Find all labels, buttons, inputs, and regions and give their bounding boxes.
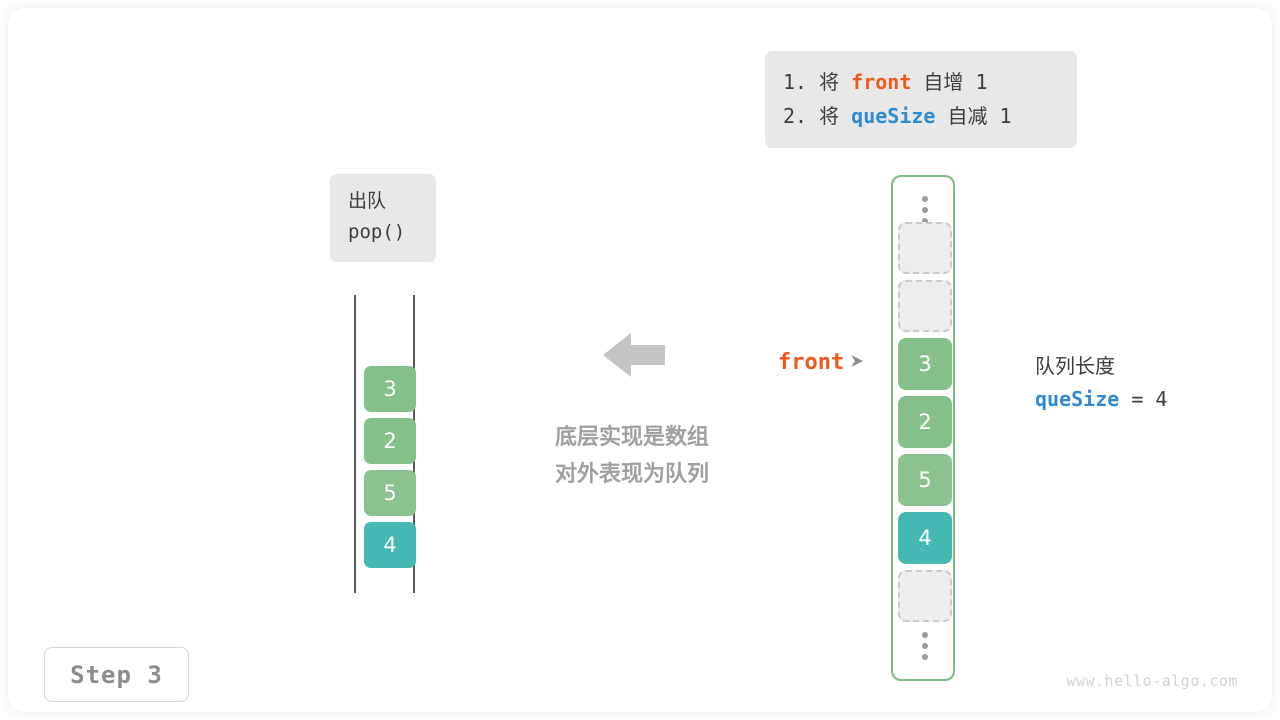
queue-cell-list: 3254	[364, 366, 416, 574]
instruction-callout: 1. 将 front 自增 1 2. 将 queSize 自减 1	[765, 51, 1077, 148]
queue-cell: 4	[364, 522, 416, 568]
array-top-ellipsis-icon	[893, 196, 957, 224]
step-badge: Step 3	[44, 647, 189, 702]
array-cell: 5	[898, 454, 952, 506]
array-cell-empty	[898, 570, 952, 622]
mapping-caption-line-1: 底层实现是数组	[535, 419, 729, 456]
instruction-line-1-prefix: 1. 将	[783, 70, 851, 94]
quesize-number: 4	[1155, 387, 1167, 411]
pop-label-title: 出队	[348, 186, 436, 217]
array-cell: 2	[898, 396, 952, 448]
instruction-line-2-keyword: queSize	[851, 104, 935, 128]
queue-abstract-view: 3254	[348, 295, 420, 593]
instruction-line-2-prefix: 2. 将	[783, 104, 851, 128]
queue-cell: 3	[364, 366, 416, 412]
watermark: www.hello-algo.com	[1066, 672, 1238, 690]
mapping-caption-line-2: 对外表现为队列	[535, 456, 729, 493]
queue-rail-left	[354, 295, 356, 593]
queue-cell: 2	[364, 418, 416, 464]
array-underlying-view: 3254	[891, 175, 955, 681]
step-badge-label: Step 3	[70, 661, 163, 689]
instruction-line-1-suffix: 自增 1	[911, 70, 987, 94]
array-cell: 4	[898, 512, 952, 564]
instruction-line-2: 2. 将 queSize 自减 1	[783, 99, 1059, 133]
mapping-caption: 底层实现是数组 对外表现为队列	[535, 419, 729, 493]
front-pointer-text: front	[778, 350, 844, 375]
front-arrow-right-icon	[851, 354, 865, 372]
array-cell-empty	[898, 222, 952, 274]
mapping-arrow-icon	[603, 332, 665, 378]
pop-label-method: pop()	[348, 217, 436, 248]
instruction-line-1: 1. 将 front 自增 1	[783, 65, 1059, 99]
array-cell: 3	[898, 338, 952, 390]
front-pointer-label: front	[778, 350, 865, 375]
queue-cell: 5	[364, 470, 416, 516]
quesize-variable-name: queSize	[1035, 387, 1119, 411]
array-bottom-ellipsis-icon	[893, 632, 957, 660]
quesize-annotation: 队列长度 queSize = 4	[1035, 350, 1167, 416]
quesize-equals: =	[1119, 387, 1155, 411]
page-card: 1. 将 front 自增 1 2. 将 queSize 自减 1 出队 pop…	[8, 8, 1272, 712]
diagram-canvas: 1. 将 front 自增 1 2. 将 queSize 自减 1 出队 pop…	[0, 0, 1280, 720]
array-cell-list: 3254	[898, 222, 952, 628]
quesize-annotation-value: queSize = 4	[1035, 382, 1167, 416]
instruction-line-1-keyword: front	[851, 70, 911, 94]
array-cell-empty	[898, 280, 952, 332]
quesize-annotation-title: 队列长度	[1035, 350, 1167, 382]
instruction-line-2-suffix: 自减 1	[935, 104, 1011, 128]
pop-operation-label: 出队 pop()	[330, 174, 436, 262]
